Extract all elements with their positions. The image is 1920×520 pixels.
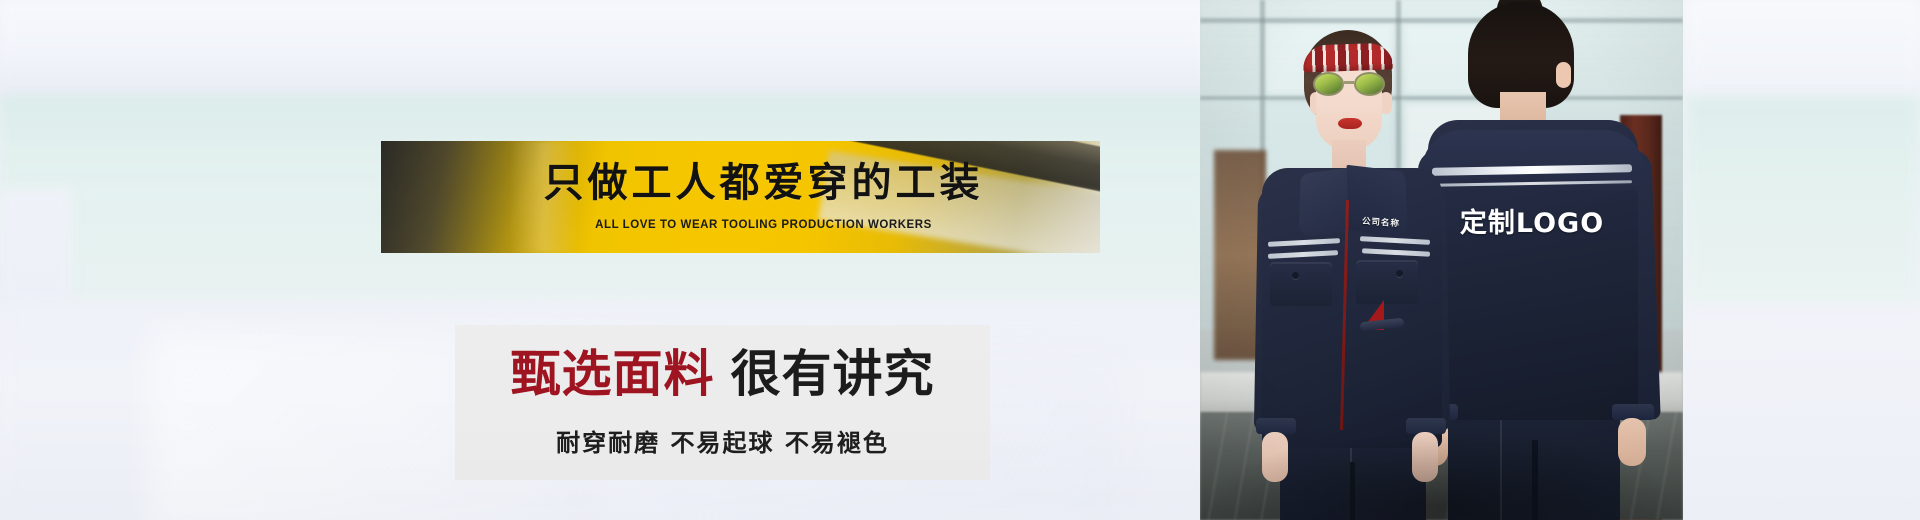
headline-row: 甄选面料 很有讲究 (511, 349, 935, 399)
photo-vignette (1200, 0, 1683, 520)
plaque-subtitle-english: ALL LOVE TO WEAR TOOLING PRODUCTION WORK… (595, 219, 932, 231)
plaque-content: 只做工人都爱穿的工装 ALL LOVE TO WEAR TOOLING PROD… (381, 141, 1100, 253)
background-right-mint-band (1686, 96, 1920, 302)
product-photo: 定制LOGO 公司名称 (1200, 0, 1683, 520)
plaque-title: 只做工人都爱穿的工装 (544, 163, 984, 203)
background-right-top-band (1686, 0, 1920, 94)
headline-subtitle: 耐穿耐磨 不易起球 不易褪色 (556, 423, 889, 458)
headline-card: 甄选面料 很有讲究 耐穿耐磨 不易起球 不易褪色 (455, 325, 990, 480)
background-left-notch (0, 188, 72, 304)
headline-plain-text: 很有讲究 (731, 349, 935, 399)
slogan-plaque: 只做工人都爱穿的工装 ALL LOVE TO WEAR TOOLING PROD… (381, 141, 1100, 253)
promo-banner-stage: 只做工人都爱穿的工装 ALL LOVE TO WEAR TOOLING PROD… (0, 0, 1920, 520)
headline-accent-text: 甄选面料 (511, 349, 715, 399)
background-top-band (0, 0, 1210, 92)
